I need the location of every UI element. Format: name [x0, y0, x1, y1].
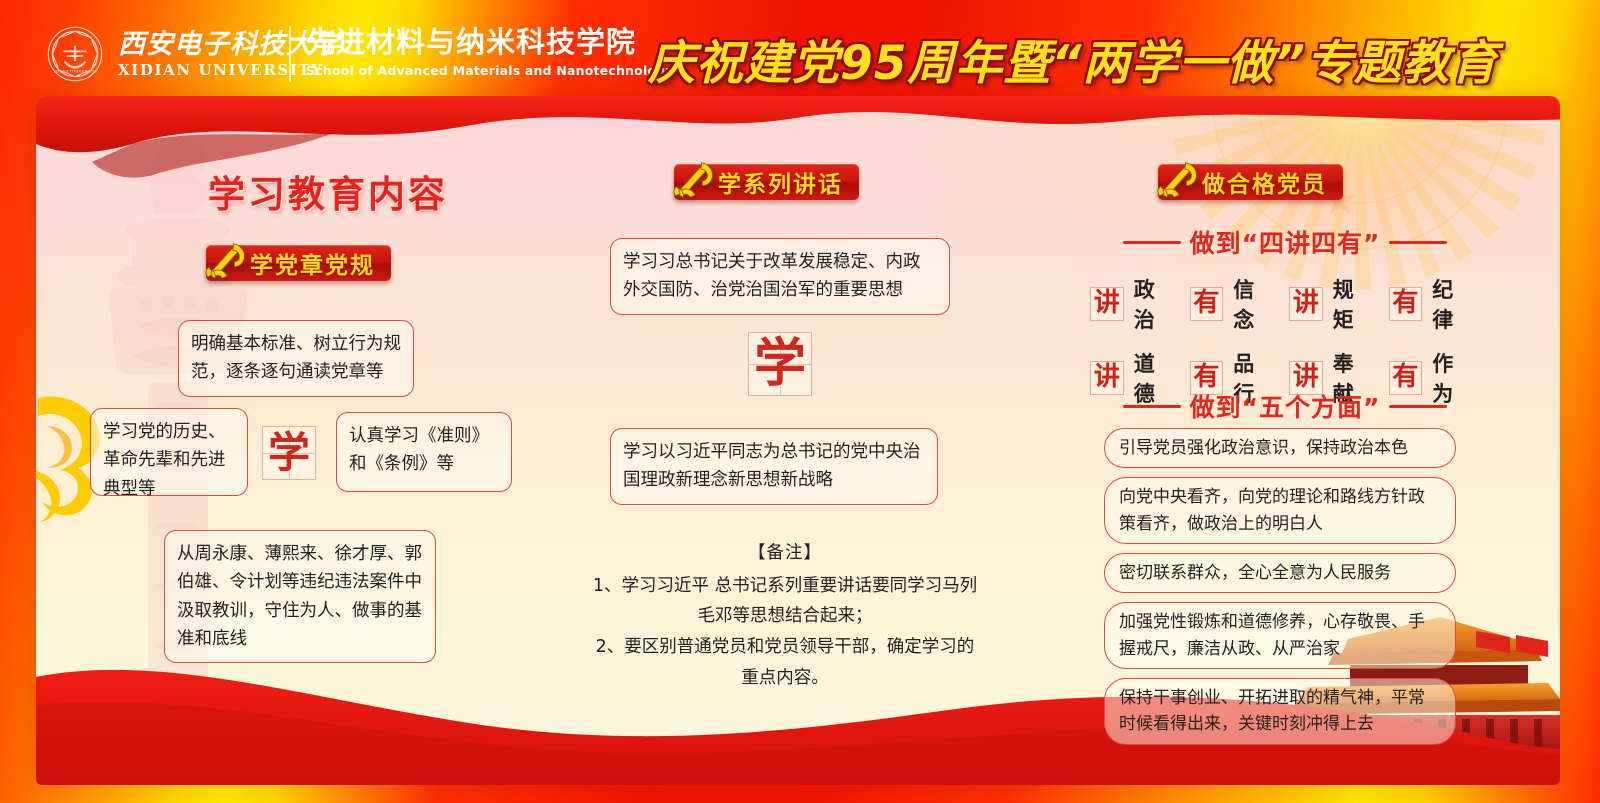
list-item: 保持干事创业、开拓进取的精气神，平常时候看得出来，关键时刻冲得上去 [1104, 678, 1456, 745]
rule-right-icon [1389, 241, 1447, 244]
university-seal-icon: XIDIAN UNIVERSITY [46, 25, 104, 83]
sjsy-glyph: 有 [1190, 287, 1224, 321]
badge-study-party-constitution: 学党章党规 [206, 245, 391, 281]
banner-title: 庆祝建党95周年暨“两学一做”专题教育 [648, 24, 1588, 86]
calligraphy-xue-left: 学 [262, 426, 316, 480]
calligraphy-xue-middle-glyph: 学 [754, 338, 806, 390]
note-heading: 【备注】 [570, 538, 1000, 569]
sjsy-glyph: 讲 [1090, 287, 1124, 321]
party-emblem-icon [202, 238, 248, 284]
badge-study-speeches: 学系列讲话 [674, 164, 859, 200]
calligraphy-xue-left-glyph: 学 [268, 432, 310, 474]
heading-four-speak-four-have: 做到“四讲四有” [1090, 224, 1480, 260]
note-block: 【备注】 1、学习习近平 总书记系列重要讲话要同学习马列 毛邓等思想结合起来； … [570, 538, 1000, 693]
party-emblem-icon [670, 157, 716, 203]
middle-box-top: 学习习总书记关于改革发展稳定、内政外交国防、治党治国治军的重要思想 [610, 238, 950, 315]
calligraphy-xue-middle: 学 [748, 332, 812, 396]
list-item: 加强党性锻炼和道德修养，心存敬畏、手握戒尺，廉洁从政、从严治家 [1104, 602, 1456, 669]
page-title: 学习教育内容 [208, 164, 448, 218]
right-column: 做合格党员 做到“四讲四有” 讲 政治 有 信念 讲 规矩 有 纪律 讲 道德 … [1090, 150, 1480, 710]
school-name-block: 先进材料与纳米科技学院 School of Advanced Materials… [306, 28, 674, 78]
poster-header: XIDIAN UNIVERSITY 西安电子科技大学 XIDIAN UNIVER… [0, 0, 1600, 104]
heading-two-text: 做到“五个方面” [1190, 388, 1381, 424]
note-line: 重点内容。 [570, 663, 1000, 694]
note-line: 2、要区别普通党员和党员领导干部，确定学习的 [570, 632, 1000, 663]
rule-right-icon [1389, 405, 1447, 408]
university-logo-block: XIDIAN UNIVERSITY 西安电子科技大学 XIDIAN UNIVER… [46, 25, 342, 83]
svg-text:XIDIAN UNIVERSITY: XIDIAN UNIVERSITY [53, 69, 98, 74]
four-speak-four-have-rows: 讲 政治 有 信念 讲 规矩 有 纪律 讲 道德 有 品行 讲 奉献 有 作为 [1090, 268, 1480, 408]
sjsy-glyph: 讲 [1289, 287, 1323, 321]
middle-box-bottom: 学习以习近平同志为总书记的党中央治国理政新理念新思想新战略 [610, 428, 938, 505]
heading-five-aspects: 做到“五个方面” [1090, 388, 1480, 424]
rule-left-icon [1123, 405, 1181, 408]
list-item: 引导党员强化政治意识，保持政治本色 [1104, 428, 1456, 468]
sjsy-row: 讲 政治 有 信念 讲 规矩 有 纪律 [1090, 274, 1480, 334]
five-aspects-list: 引导党员强化政治意识，保持政治本色 向党中央看齐，向党的理论和路线方针政策看齐，… [1104, 428, 1456, 754]
left-box-history: 学习党的历史、革命先辈和先进典型等 [90, 408, 248, 496]
left-box-top: 明确基本标准、树立行为规范，逐条逐句通读党章等 [178, 320, 414, 397]
list-item: 向党中央看齐，向党的理论和路线方针政策看齐，做政治上的明白人 [1104, 477, 1456, 544]
list-item: 密切联系群众，全心全意为人民服务 [1104, 553, 1456, 593]
sjsy-word: 信念 [1231, 274, 1281, 334]
heading-one-text: 做到“四讲四有” [1190, 224, 1381, 260]
poster-root: ★ [0, 0, 1600, 803]
school-name-cn: 先进材料与纳米科技学院 [306, 28, 674, 57]
note-line: 毛邓等思想结合起来； [570, 601, 1000, 632]
middle-column: 学系列讲话 学习习总书记关于改革发展稳定、内政外交国防、治党治国治军的重要思想 … [570, 150, 1020, 710]
sjsy-word: 规矩 [1331, 274, 1381, 334]
vertical-divider-icon [289, 26, 291, 82]
sjsy-word: 纪律 [1430, 274, 1480, 334]
left-column: 学习教育内容 学党章党规 明确基本标准、树立行为规范，逐条逐句通读党章等 学习党… [90, 150, 540, 710]
svg-text:中华人民共和国万岁: 中华人民共和国万岁 [1427, 756, 1508, 768]
sjsy-word: 政治 [1132, 274, 1182, 334]
left-box-lessons: 从周永康、薄熙来、徐才厚、郭伯雄、令计划等违纪违法案件中汲取教训，守住为人、做事… [164, 530, 436, 663]
rule-left-icon [1123, 241, 1181, 244]
school-name-en: School of Advanced Materials and Nanotec… [306, 65, 674, 78]
party-emblem-icon [1154, 157, 1200, 203]
left-box-guidelines: 认真学习《准则》和《条例》等 [336, 412, 512, 492]
note-line: 1、学习习近平 总书记系列重要讲话要同学习马列 [570, 571, 1000, 602]
badge-qualified-member: 做合格党员 [1158, 164, 1343, 200]
sjsy-glyph: 有 [1389, 287, 1423, 321]
